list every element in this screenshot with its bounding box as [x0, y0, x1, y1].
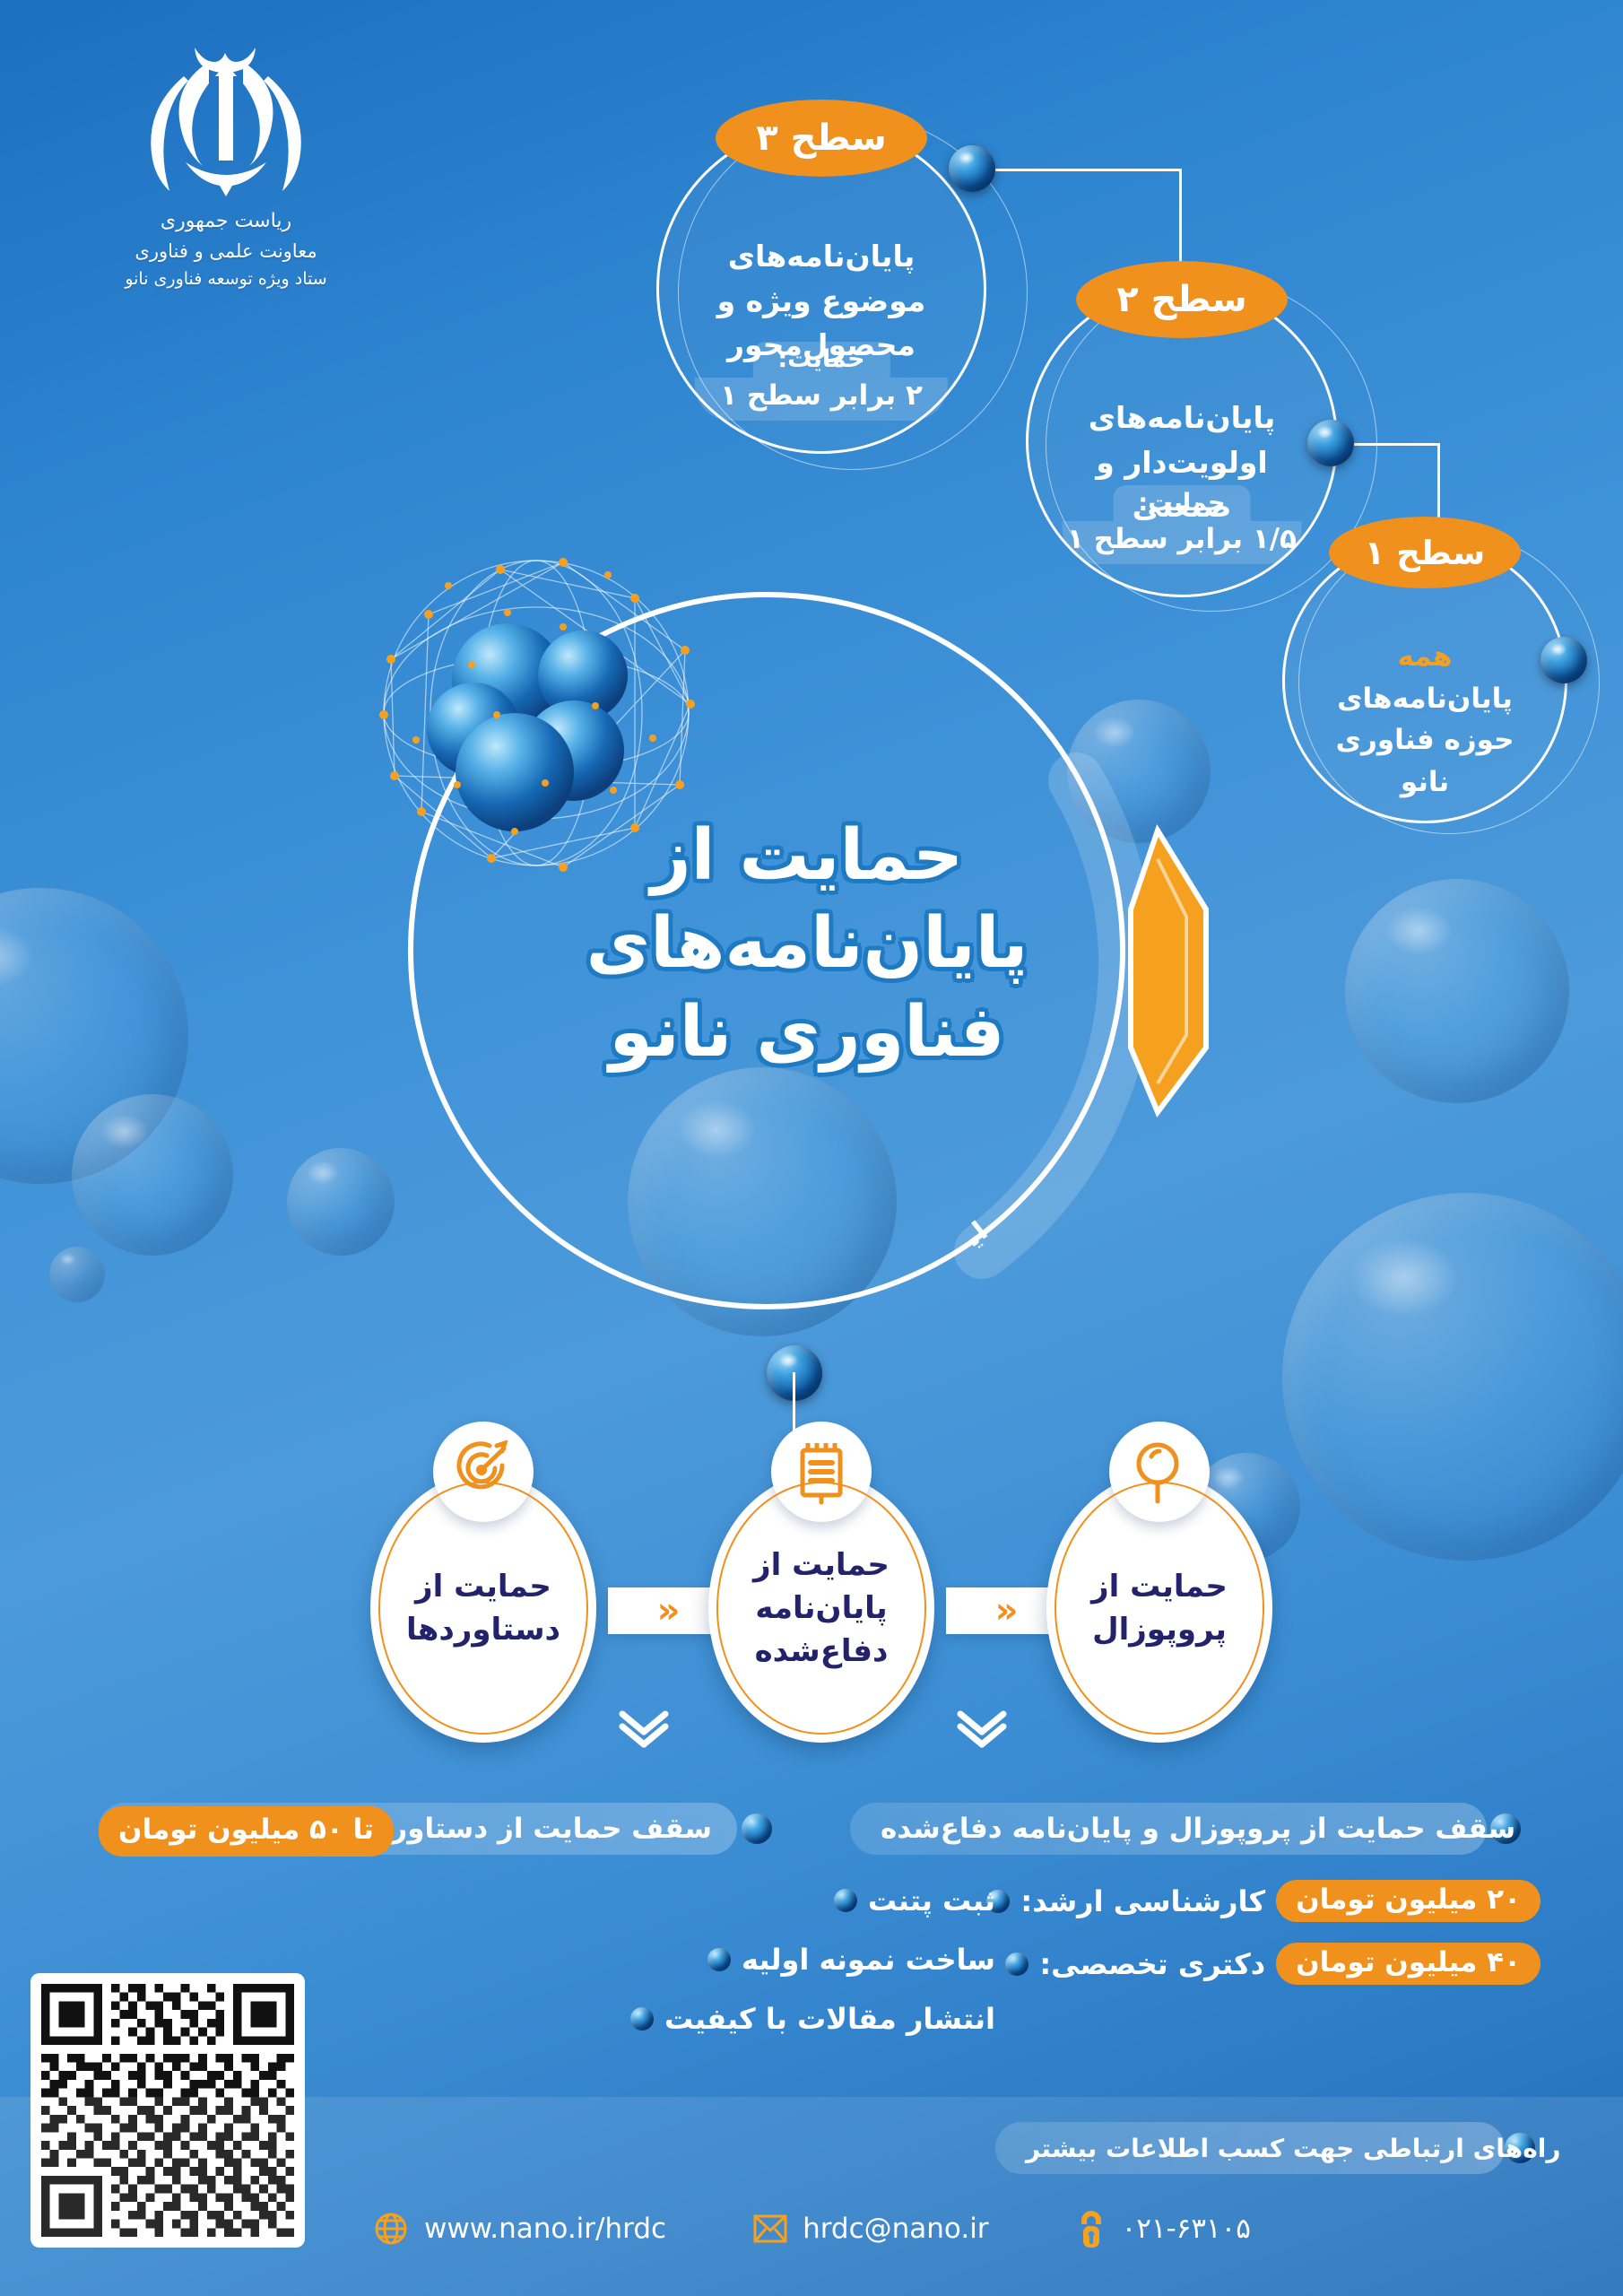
step-proposal-ring: حمایت از پروپوزال: [1055, 1482, 1264, 1735]
right-panel-row-label: دکتری تخصصی:: [1039, 1947, 1265, 1981]
level-3-support-value: ۲ برابر سطح ۱: [695, 378, 948, 421]
contact-email[interactable]: hrdc@nano.ir: [752, 2213, 989, 2245]
left-panel-item-label: انتشار مقالات با کیفیت: [664, 2002, 995, 2036]
level-1-node-sphere: [1541, 637, 1587, 683]
background-bubble: [72, 1094, 233, 1256]
right-panel-heading: سقف حمایت از پروپوزال و پایان‌نامه دفاع‌…: [850, 1803, 1487, 1855]
step-achievements[interactable]: حمایت از دستاوردها: [370, 1474, 596, 1743]
level-2-support-caption: حمایت:: [1113, 485, 1250, 521]
step-proposal[interactable]: حمایت از پروپوزال: [1046, 1474, 1272, 1743]
contact-website[interactable]: www.nano.ir/hrdc: [372, 2210, 666, 2248]
phone-icon: [1075, 2208, 1107, 2249]
chevron-left-icon: «: [657, 1593, 681, 1629]
level-1-circle[interactable]: سطح ۱ همه پایان‌نامه‌های حوزه فناوری نان…: [1282, 538, 1567, 823]
level-1-body-rest: پایان‌نامه‌های حوزه فناوری نانو: [1336, 683, 1515, 798]
left-panel-item: ثبت پتنت: [834, 1883, 995, 1918]
chevron-left-icon: «: [995, 1593, 1019, 1629]
left-panel-item: انتشار مقالات با کیفیت: [630, 2002, 995, 2036]
poster-canvas: ریاست جمهوری معاونت علمی و فناوری ستاد و…: [0, 0, 1623, 2296]
background-bubble: [287, 1148, 395, 1256]
step-proposal-label: حمایت از پروپوزال: [1056, 1565, 1263, 1652]
background-bubble: [1282, 1193, 1623, 1561]
level-3-circle[interactable]: سطح ۳ پایان‌نامه‌های موضوع ویژه و محصول‌…: [656, 124, 986, 454]
logo-line-3: ستاد ویژه توسعه فناوری نانو: [82, 266, 369, 292]
level-1-body: همه پایان‌نامه‌های حوزه فناوری نانو: [1307, 636, 1542, 803]
level-2-badge: سطح ۲: [1076, 261, 1288, 338]
step-achievements-ring: حمایت از دستاوردها: [378, 1482, 588, 1735]
step-defended-thesis-label: حمایت از پایان‌نامه دفاع‌شده: [718, 1544, 924, 1674]
level-2-node-sphere: [1307, 420, 1354, 466]
right-panel-row: ۴۰ میلیون تومان دکتری تخصصی:: [1005, 1943, 1541, 1985]
organization-logo: ریاست جمهوری معاونت علمی و فناوری ستاد و…: [82, 40, 369, 292]
footer-heading-text: راه‌های ارتباطی جهت کسب اطلاعات بیشتر: [1026, 2134, 1560, 2163]
chevron-down-icon: [617, 1709, 671, 1748]
chevron-down-icon: [955, 1709, 1009, 1748]
step-achievements-label: حمایت از دستاوردها: [380, 1565, 586, 1652]
left-panel-item: ساخت نمونه اولیه: [707, 1943, 995, 1977]
right-panel-row-label: کارشناسی ارشد:: [1020, 1884, 1265, 1918]
level-3-node-sphere: [949, 145, 995, 192]
level-3-support-caption: حمایت:: [752, 342, 890, 378]
level-2-support: حمایت: ۱/۵ برابر سطح ۱: [1063, 485, 1302, 564]
ring-bookmark-marker: [1116, 823, 1215, 1119]
background-bubble: [1345, 879, 1569, 1103]
email-icon: [752, 2213, 788, 2244]
bullet-icon: [630, 2007, 654, 2031]
bullet-icon: [707, 1948, 731, 1971]
page-title: حمایت از پایان‌نامه‌های فناوری نانو: [538, 812, 1076, 1076]
contact-phone-value: ۰۲۱-۶۳۱۰۵: [1122, 2213, 1251, 2245]
background-bubble: [0, 888, 188, 1184]
left-panel-heading-amount: تا ۵۰ میلیون تومان: [99, 1806, 394, 1857]
title-line-1: حمایت از: [538, 812, 1076, 900]
bullet-icon: [834, 1889, 857, 1912]
level-3-support: حمایت: ۲ برابر سطح ۱: [695, 342, 948, 421]
footer-contacts: www.nano.ir/hrdc hrdc@nano.ir ۰۲۱-۶۳۱۰۵: [0, 2208, 1623, 2249]
left-panel-item-label: ساخت نمونه اولیه: [742, 1943, 995, 1977]
logo-line-2: معاونت علمی و فناوری: [82, 237, 369, 266]
level-3-badge: سطح ۳: [716, 100, 927, 177]
right-panel-row-amount: ۴۰ میلیون تومان: [1276, 1943, 1541, 1985]
left-panel-heading-text: سقف حمایت از دستاوردها: [347, 1813, 712, 1845]
title-line-3: فناوری نانو: [538, 988, 1076, 1076]
level-1-badge: سطح ۱: [1329, 517, 1521, 588]
step-defended-thesis-ring: حمایت از پایان‌نامه دفاع‌شده: [716, 1482, 926, 1735]
logo-line-1: ریاست جمهوری: [82, 206, 369, 237]
level-2-circle[interactable]: سطح ۲ پایان‌نامه‌های اولویت‌دار و صنعتی …: [1026, 285, 1338, 597]
right-panel-row: ۲۰ میلیون تومان کارشناسی ارشد:: [986, 1880, 1541, 1922]
contact-email-value: hrdc@nano.ir: [803, 2213, 989, 2245]
iran-emblem-icon: [132, 40, 320, 206]
contact-website-value: www.nano.ir/hrdc: [424, 2213, 666, 2245]
connector-line-2-1: [1347, 443, 1440, 446]
title-line-2: پایان‌نامه‌های: [538, 900, 1076, 987]
right-panel-row-amount: ۲۰ میلیون تومان: [1276, 1880, 1541, 1922]
left-panel-bullet: [742, 1813, 772, 1844]
connector-line-3-2: [995, 169, 1182, 171]
background-bubble: [49, 1247, 105, 1302]
right-panel-heading-text: سقف حمایت از پروپوزال و پایان‌نامه دفاع‌…: [881, 1813, 1515, 1845]
level-1-body-highlight: همه: [1397, 640, 1452, 673]
step-defended-thesis[interactable]: حمایت از پایان‌نامه دفاع‌شده: [708, 1474, 934, 1743]
bullet-icon: [1005, 1952, 1028, 1976]
contact-phone[interactable]: ۰۲۱-۶۳۱۰۵: [1075, 2208, 1251, 2249]
footer-heading: راه‌های ارتباطی جهت کسب اطلاعات بیشتر: [995, 2122, 1505, 2174]
left-panel-item-label: ثبت پتنت: [868, 1883, 995, 1918]
globe-icon: [372, 2210, 410, 2248]
level-2-support-value: ۱/۵ برابر سطح ۱: [1063, 521, 1302, 564]
